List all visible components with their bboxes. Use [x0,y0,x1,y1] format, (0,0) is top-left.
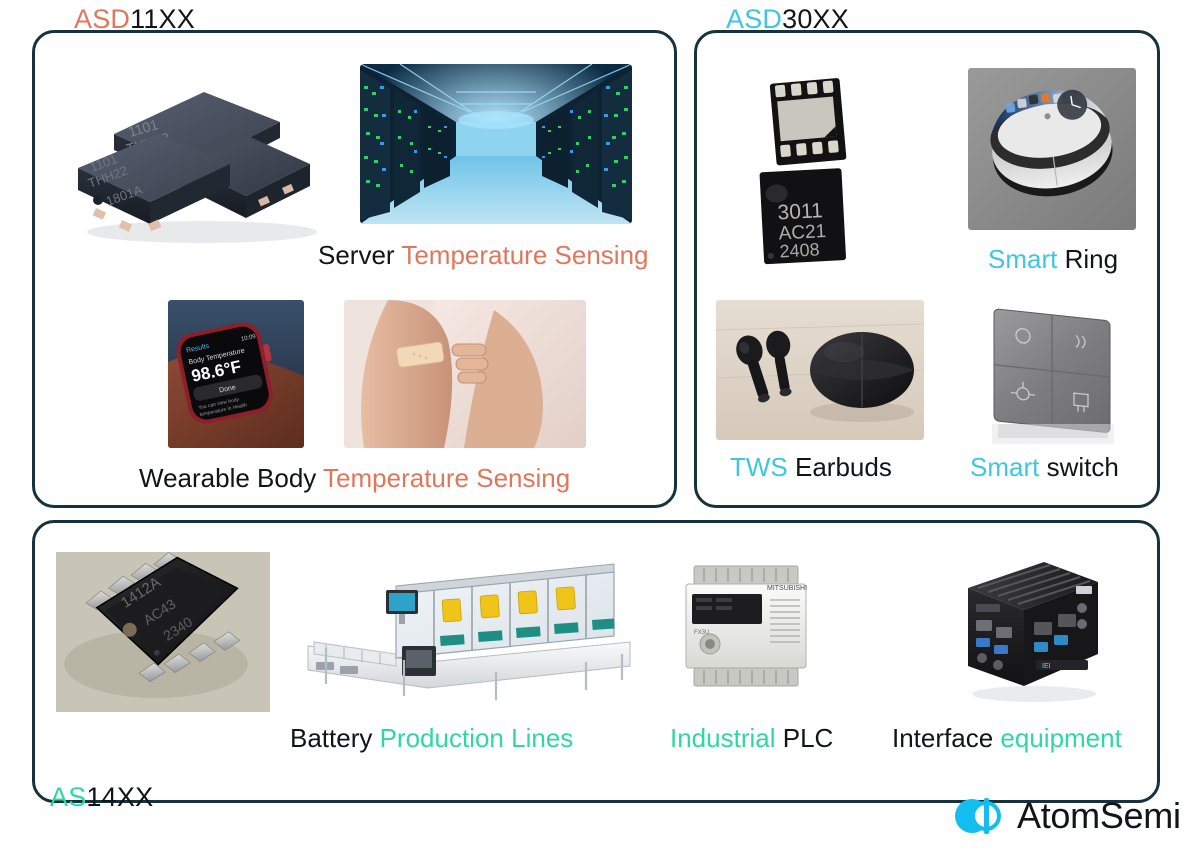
caption-plain: Battery [290,723,380,753]
caption-accent: Production Lines [380,723,574,753]
caption-server-temperature-sensing: Server Temperature Sensing [318,240,648,271]
caption-plain: PLC [783,723,834,753]
caption-plain: Earbuds [795,452,892,482]
slide-root: ASD11XX ASD30XX AS14XX [0,0,1193,867]
battery-production-line-photo [300,550,652,710]
panel-title-rest: 14XX [86,782,153,812]
caption-accent: Smart [970,452,1047,482]
smart-switch-photo [968,296,1140,446]
atomsemi-logo: AtomSemi [953,790,1163,842]
panel-title-asd30xx: ASD30XX [726,4,849,35]
caption-interface-equipment: Interface equipment [892,723,1122,754]
datacenter-photo [360,64,632,224]
svg-text:IEI: IEI [1042,663,1051,670]
panel-title-as14xx: AS14XX [50,782,153,813]
caption-plain: Wearable Body [139,463,323,493]
panel-title-accent: ASD [74,4,130,34]
panel-title-rest: 30XX [782,4,849,34]
chip-asd30xx-photo: 3011 AC21 2408 [752,72,882,267]
panel-title-rest: 11XX [130,4,195,34]
caption-smart-ring: Smart Ring [988,244,1118,275]
caption-accent: Temperature Sensing [401,240,648,270]
smartwatch-photo: Results 10:09 Body Temperature 98.6°F Do… [168,300,304,448]
caption-accent: equipment [1000,723,1121,753]
svg-text:2408: 2408 [779,239,820,261]
caption-accent: Industrial [670,723,783,753]
chips-asd11xx-photo: 1101 THH22 1801A 1101 THH22 [62,72,324,244]
chip-as14xx-photo: 1412A AC43 2340 [56,552,270,712]
caption-accent: Smart [988,244,1065,274]
atomsemi-logo-mark-icon [953,794,1003,838]
panel-title-asd11xx: ASD11XX [74,4,195,35]
industrial-plc-photo: FX3U MITSUBISHI [672,556,824,706]
smart-ring-photo [968,68,1136,230]
caption-battery-production-lines: Battery Production Lines [290,723,573,754]
panel-title-accent: ASD [726,4,782,34]
caption-accent: TWS [730,452,795,482]
caption-wearable-body-temperature-sensing: Wearable Body Temperature Sensing [139,463,570,494]
caption-smart-switch: Smart switch [970,452,1119,483]
panel-title-accent: AS [50,782,86,812]
caption-industrial-plc: Industrial PLC [670,723,833,754]
svg-text:MITSUBISHI: MITSUBISHI [767,585,807,592]
atomsemi-logo-text: AtomSemi [1017,795,1181,837]
caption-plain: switch [1047,452,1119,482]
tws-earbuds-photo [716,300,924,440]
caption-accent: Temperature Sensing [323,463,570,493]
caption-plain: Server [318,240,401,270]
caption-plain: Interface [892,723,1000,753]
caption-tws-earbuds: TWS Earbuds [730,452,892,483]
caption-plain: Ring [1065,244,1118,274]
arm-thermometer-patch-photo [344,300,586,448]
interface-equipment-photo: IEI [950,548,1118,710]
